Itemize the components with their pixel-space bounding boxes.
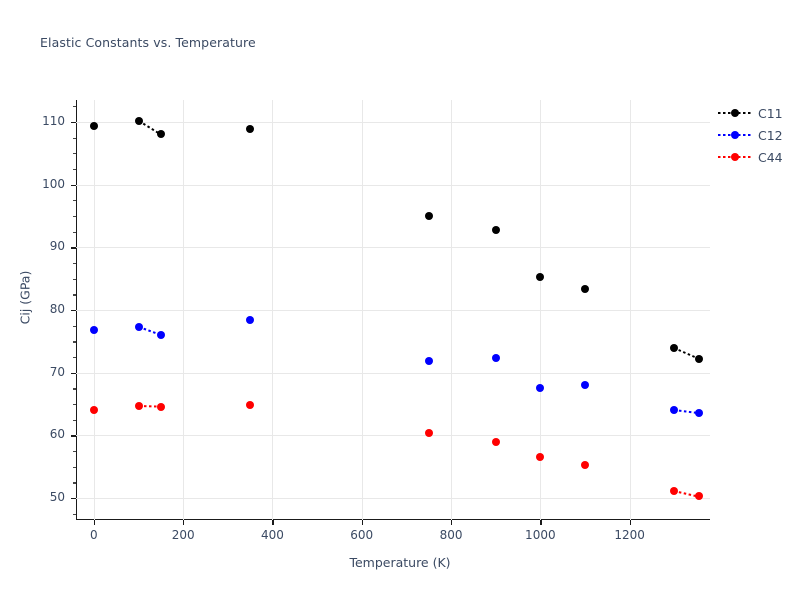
y-tick-minor (73, 467, 76, 468)
data-point-c11 (246, 125, 254, 133)
y-tick-label: 100 (42, 177, 65, 191)
x-tick-label: 0 (90, 528, 98, 542)
data-point-c44 (90, 406, 98, 414)
data-point-c44 (695, 492, 703, 500)
y-tick (71, 373, 76, 374)
y-tick-label: 60 (50, 427, 65, 441)
data-point-c12 (90, 326, 98, 334)
legend-swatch-c44 (718, 151, 752, 163)
y-tick-minor (73, 404, 76, 405)
data-point-c44 (670, 487, 678, 495)
y-tick-label: 110 (42, 114, 65, 128)
y-tick-minor (73, 294, 76, 295)
x-tick (183, 520, 184, 525)
chart-legend: C11 C12 C44 (718, 102, 798, 168)
data-clip-region (76, 100, 710, 520)
x-tick (272, 520, 273, 525)
data-point-c12 (670, 406, 678, 414)
data-point-c12 (695, 409, 703, 417)
data-point-c11 (492, 226, 500, 234)
y-tick-minor (73, 232, 76, 233)
y-tick (71, 247, 76, 248)
y-tick-minor (73, 279, 76, 280)
legend-item-c12[interactable]: C12 (718, 124, 798, 146)
y-tick-minor (73, 482, 76, 483)
x-tick-label: 600 (350, 528, 373, 542)
data-point-c11 (157, 130, 165, 138)
y-tick-minor (73, 263, 76, 264)
data-point-c11 (670, 344, 678, 352)
data-point-c12 (157, 331, 165, 339)
data-point-c12 (492, 354, 500, 362)
x-tick-label: 400 (261, 528, 284, 542)
y-tick-label: 80 (50, 302, 65, 316)
y-tick-minor (73, 138, 76, 139)
legend-swatch-c12 (718, 129, 752, 141)
y-tick-minor (73, 451, 76, 452)
chart-figure: Elastic Constants vs. Temperature 506070… (0, 0, 800, 600)
data-point-c12 (536, 384, 544, 392)
x-tick-label: 800 (440, 528, 463, 542)
legend-item-c44[interactable]: C44 (718, 146, 798, 168)
x-tick (540, 520, 541, 525)
y-tick-minor (73, 514, 76, 515)
data-point-c12 (581, 381, 589, 389)
x-tick (451, 520, 452, 525)
data-point-c44 (581, 461, 589, 469)
y-tick-minor (73, 341, 76, 342)
data-point-c12 (425, 357, 433, 365)
y-tick (71, 435, 76, 436)
data-point-c44 (492, 438, 500, 446)
data-point-c44 (246, 401, 254, 409)
data-point-c11 (135, 117, 143, 125)
data-point-c44 (536, 453, 544, 461)
y-tick (71, 498, 76, 499)
data-point-c44 (425, 429, 433, 437)
data-point-c11 (90, 122, 98, 130)
legend-label-c12: C12 (752, 128, 783, 143)
data-point-c44 (157, 403, 165, 411)
y-tick-label: 90 (50, 239, 65, 253)
y-tick (71, 310, 76, 311)
x-tick-label: 1200 (614, 528, 645, 542)
y-tick-label: 50 (50, 490, 65, 504)
x-tick-label: 200 (172, 528, 195, 542)
y-tick-minor (73, 169, 76, 170)
chart-title: Elastic Constants vs. Temperature (40, 35, 256, 50)
legend-label-c44: C44 (752, 150, 783, 165)
x-tick-label: 1000 (525, 528, 556, 542)
x-axis-label: Temperature (K) (0, 555, 800, 570)
x-tick (630, 520, 631, 525)
data-point-c11 (695, 355, 703, 363)
y-tick-label: 70 (50, 365, 65, 379)
y-tick-minor (73, 420, 76, 421)
y-tick-minor (73, 153, 76, 154)
data-point-c11 (425, 212, 433, 220)
data-point-c12 (135, 323, 143, 331)
y-tick-minor (73, 200, 76, 201)
data-point-c11 (581, 285, 589, 293)
y-tick-minor (73, 106, 76, 107)
x-tick (362, 520, 363, 525)
plot-area (76, 100, 710, 520)
y-axis-label: Cij (GPa) (18, 118, 33, 478)
x-tick (94, 520, 95, 525)
data-point-c11 (536, 273, 544, 281)
data-point-c44 (135, 402, 143, 410)
legend-swatch-c11 (718, 107, 752, 119)
y-tick (71, 185, 76, 186)
legend-label-c11: C11 (752, 106, 783, 121)
y-tick-minor (73, 388, 76, 389)
data-point-c12 (246, 316, 254, 324)
y-tick-minor (73, 326, 76, 327)
y-tick-minor (73, 216, 76, 217)
y-tick-minor (73, 357, 76, 358)
y-tick (71, 122, 76, 123)
legend-item-c11[interactable]: C11 (718, 102, 798, 124)
